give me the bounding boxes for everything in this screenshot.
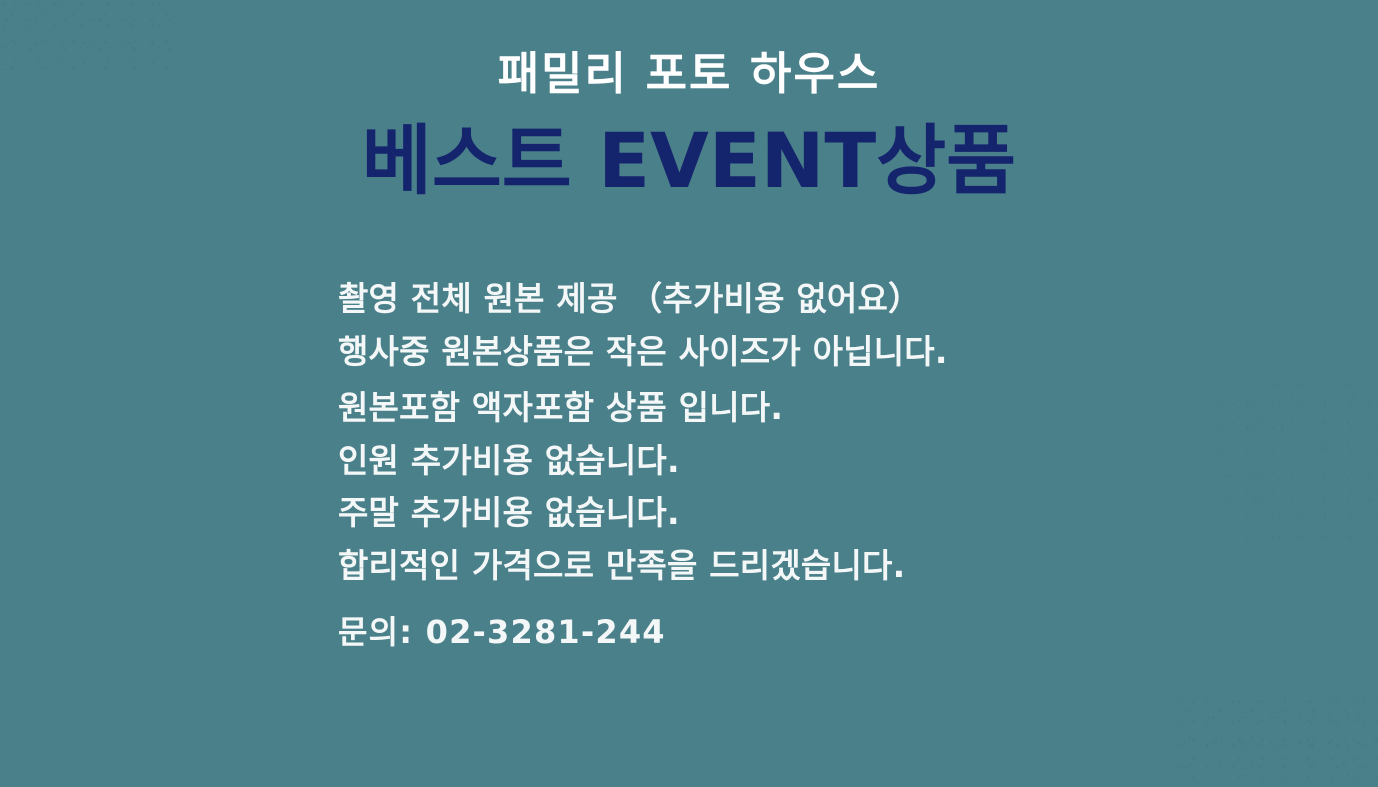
benefit-line-3: 원본포함 액자포함 상품 입니다. xyxy=(338,391,1318,424)
benefit-line-6: 합리적인 가격으로 만족을 드리겠습니다. xyxy=(338,549,1318,582)
event-headline: 베스트 EVENT상품 xyxy=(0,116,1378,206)
background-noise-bottom-right xyxy=(1178,697,1378,787)
benefits-list: 촬영 전체 원본 제공 （추가비용 없어요） 행사중 원본상품은 작은 사이즈가… xyxy=(338,282,1318,648)
benefit-line-2: 행사중 원본상품은 작은 사이즈가 아닙니다. xyxy=(338,335,1318,368)
promo-poster: 패밀리 포토 하우스 베스트 EVENT상품 촬영 전체 원본 제공 （추가비용… xyxy=(0,0,1378,787)
benefit-line-5: 주말 추가비용 없습니다. xyxy=(338,496,1318,529)
benefit-line-4: 인원 추가비용 없습니다. xyxy=(338,444,1318,477)
benefit-line-1: 촬영 전체 원본 제공 （추가비용 없어요） xyxy=(338,282,1318,315)
contact-phone[interactable]: 문의: 02-3281-244 xyxy=(338,616,1318,648)
brand-name: 패밀리 포토 하우스 xyxy=(0,46,1378,102)
headline-block: 패밀리 포토 하우스 베스트 EVENT상품 xyxy=(0,46,1378,206)
